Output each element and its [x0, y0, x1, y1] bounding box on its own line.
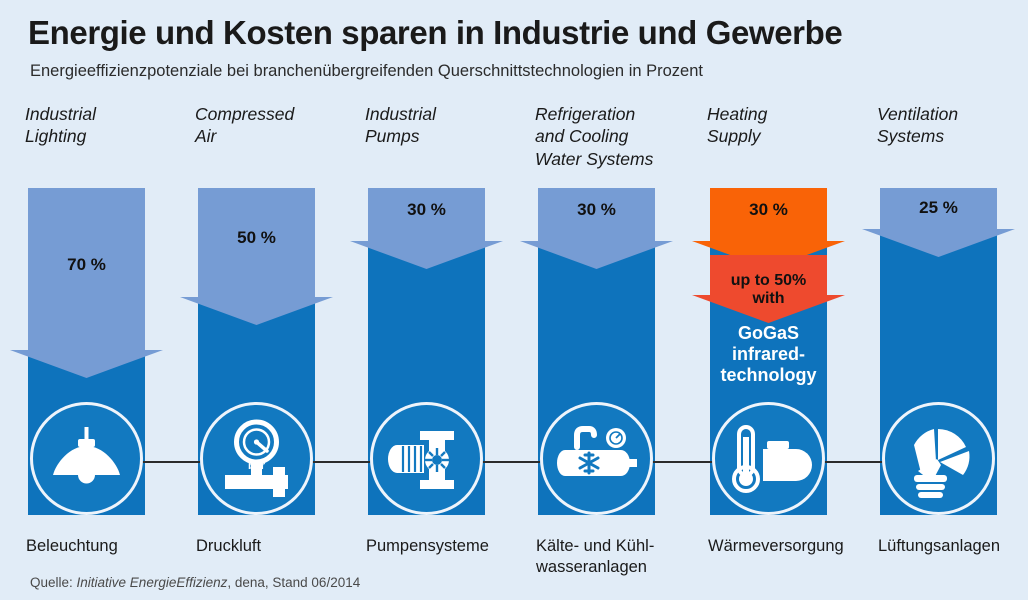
header-line: Refrigeration [535, 103, 700, 125]
icon-circle-ventilation [882, 402, 995, 515]
connector-line [825, 461, 882, 463]
connector-line [483, 461, 540, 463]
header-line: Air [195, 125, 360, 147]
pump-motor-icon [373, 405, 480, 512]
column-header-compressed-air: Compressed Air [195, 103, 360, 148]
column-header-heating: Heating Supply [707, 103, 872, 148]
column-refrigeration: Refrigeration and Cooling Water Systems … [510, 0, 686, 600]
header-line: Industrial [365, 103, 530, 125]
column-ventilation: Ventilation Systems 25 % Lüftungsanlagen [852, 0, 1028, 600]
value-arrow [180, 188, 333, 325]
column-heating: Heating Supply 30 % up to 50% with GoGaS… [682, 0, 858, 600]
column-header-pumps: Industrial Pumps [365, 103, 530, 148]
icon-circle-lighting [30, 402, 143, 515]
source-prefix: Quelle: [30, 575, 77, 590]
column-header-ventilation: Ventilation Systems [877, 103, 1028, 148]
icon-circle-pumps [370, 402, 483, 515]
column-compressed-air: Compressed Air 50 % bar Druckluft [170, 0, 346, 600]
promo-label: up to 50% with [702, 272, 835, 308]
header-line: Supply [707, 125, 872, 147]
column-header-lighting: Industrial Lighting [25, 103, 190, 148]
footer-line: Lüftungsanlagen [878, 536, 1028, 557]
column-header-refrigeration: Refrigeration and Cooling Water Systems [535, 103, 700, 170]
header-line: Lighting [25, 125, 190, 147]
value-label: 70 % [28, 255, 145, 275]
icon-circle-heating [712, 402, 825, 515]
brand-line: GoGaS [704, 323, 833, 344]
column-footer-ventilation: Lüftungsanlagen [878, 536, 1028, 557]
pressure-gauge-icon: bar [203, 405, 310, 512]
refrigeration-unit-icon [543, 405, 650, 512]
header-line: Ventilation [877, 103, 1028, 125]
promo-line: up to 50% [702, 272, 835, 290]
brand-label: GoGaS infrared- technology [704, 323, 833, 386]
column-pumps: Industrial Pumps 30 % [340, 0, 516, 600]
icon-circle-compressed-air: bar [200, 402, 313, 515]
value-label: 30 % [710, 200, 827, 220]
header-line: Pumps [365, 125, 530, 147]
source-note: Quelle: Initiative EnergieEffizienz, den… [30, 575, 360, 590]
pendant-lamp-icon [33, 405, 140, 512]
brand-line: technology [704, 365, 833, 386]
header-line: Heating [707, 103, 872, 125]
header-line: Industrial [25, 103, 190, 125]
column-lighting: Industrial Lighting 70 % Beleuchtung [0, 0, 176, 600]
connector-line [653, 461, 712, 463]
header-line: Compressed [195, 103, 360, 125]
header-line: and Cooling [535, 125, 700, 147]
source-italic: Initiative EnergieEffizienz [77, 575, 228, 590]
header-line: Water Systems [535, 148, 700, 170]
connector-line [143, 461, 200, 463]
value-label: 50 % [198, 228, 315, 248]
promo-line: with [702, 290, 835, 308]
value-arrow [10, 188, 163, 378]
value-label: 25 % [880, 198, 997, 218]
value-label: 30 % [538, 200, 655, 220]
header-line: Systems [877, 125, 1028, 147]
source-suffix: , dena, Stand 06/2014 [227, 575, 360, 590]
icon-circle-refrigeration [540, 402, 653, 515]
connector-line [313, 461, 370, 463]
infographic-canvas: Energie und Kosten sparen in Industrie u… [0, 0, 1028, 600]
value-label: 30 % [368, 200, 485, 220]
brand-line: infrared- [704, 344, 833, 365]
ventilation-fan-icon [885, 405, 992, 512]
thermometer-boiler-icon [715, 405, 822, 512]
